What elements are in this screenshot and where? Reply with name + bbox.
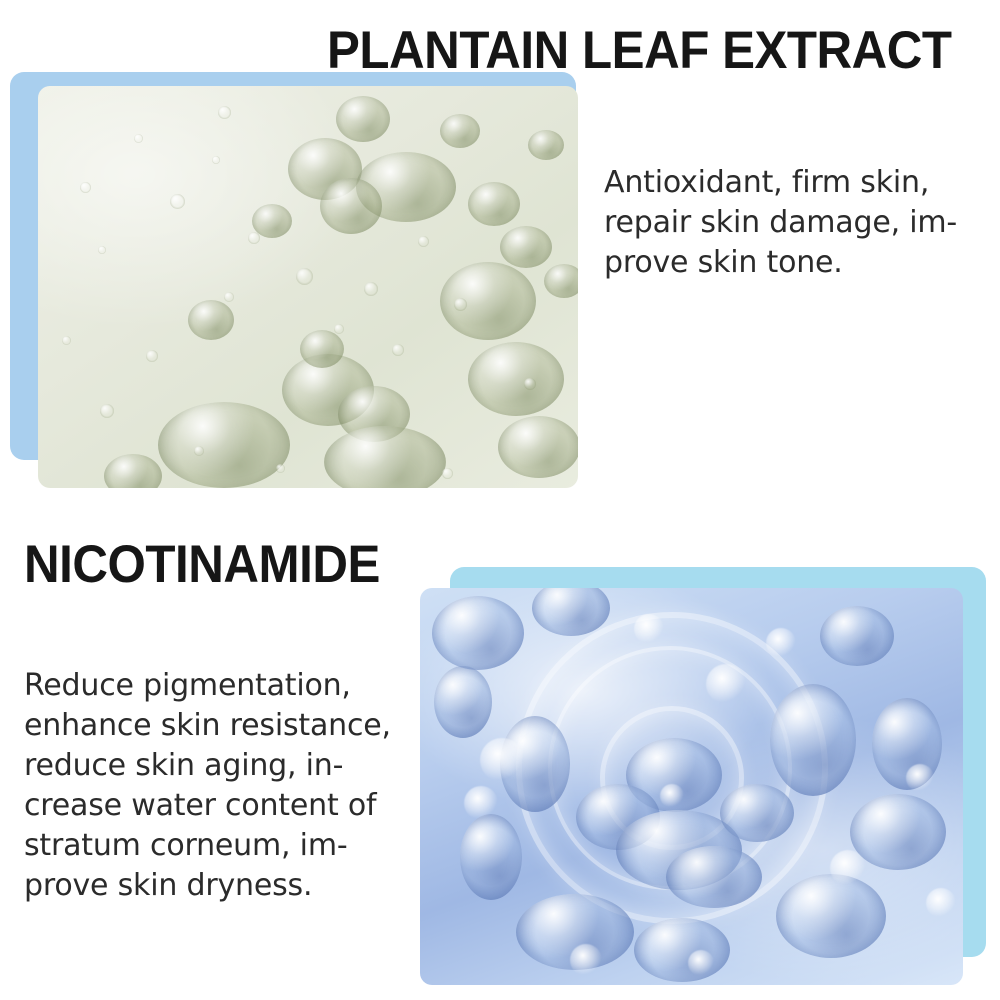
infographic-page: PLANTAIN LEAF EXTRACT Antioxidant, firm … xyxy=(0,0,1000,1000)
nicotinamide-bubble-layer xyxy=(420,588,963,985)
section-plantain-leaf-extract: PLANTAIN LEAF EXTRACT Antioxidant, firm … xyxy=(0,0,1000,500)
section-heading-plantain: PLANTAIN LEAF EXTRACT xyxy=(327,24,952,77)
section-body-plantain: Antioxidant, firm skin, repair skin dama… xyxy=(604,163,974,283)
ingredient-image-nicotinamide xyxy=(420,588,963,985)
section-nicotinamide: NICOTINAMIDE Reduce pigmentation, enhanc… xyxy=(0,500,1000,1000)
plantain-bubble-layer xyxy=(38,86,578,488)
section-body-nicotinamide: Reduce pigmentation, enhance skin resist… xyxy=(24,666,404,906)
ingredient-image-plantain xyxy=(38,86,578,488)
section-heading-nicotinamide: NICOTINAMIDE xyxy=(24,538,380,591)
